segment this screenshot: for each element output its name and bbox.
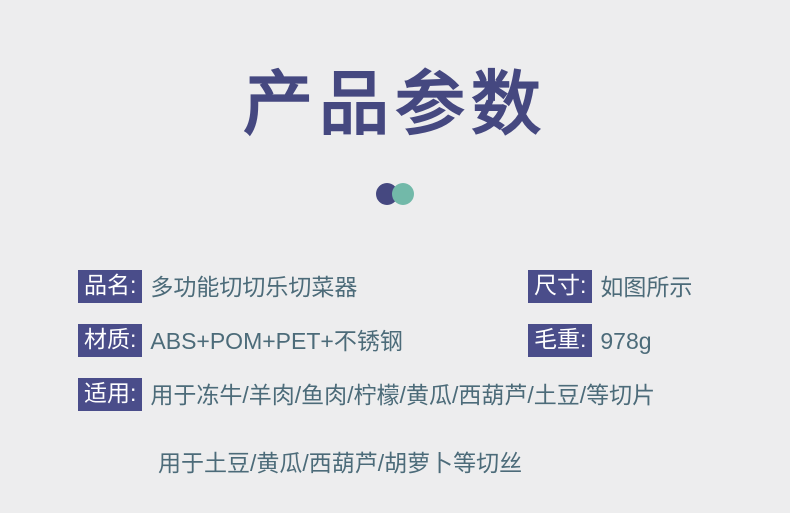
spec-label-badge: 品名: — [78, 270, 142, 303]
spec-row: 适用: 用于冻牛/羊肉/鱼肉/柠檬/黄瓜/西葫芦/土豆/等切片 — [0, 370, 790, 424]
spec-item-applicable-use: 适用: 用于冻牛/羊肉/鱼肉/柠檬/黄瓜/西葫芦/土豆/等切片 — [78, 378, 655, 411]
spec-label-badge: 适用: — [78, 378, 142, 411]
spec-item-material: 材质: ABS+POM+PET+不锈钢 — [78, 324, 403, 357]
spec-value: ABS+POM+PET+不锈钢 — [150, 328, 402, 354]
spec-value: 978g — [600, 328, 651, 354]
spec-item-product-name: 品名: 多功能切切乐切菜器 — [78, 270, 357, 303]
spec-list: 品名: 多功能切切乐切菜器 尺寸: 如图所示 材质: ABS+POM+PET+不… — [0, 262, 790, 424]
spec-label-badge: 尺寸: — [528, 270, 592, 303]
spec-row: 品名: 多功能切切乐切菜器 尺寸: 如图所示 — [0, 262, 790, 316]
product-spec-page: 产品参数 品名: 多功能切切乐切菜器 尺寸: 如图所示 材质: ABS+POM+… — [0, 0, 790, 513]
teal-circle-icon — [392, 183, 414, 205]
spec-row: 材质: ABS+POM+PET+不锈钢 毛重: 978g — [0, 316, 790, 370]
decorative-divider — [0, 182, 790, 206]
spec-item-gross-weight: 毛重: 978g — [528, 324, 652, 357]
spec-value: 如图所示 — [600, 274, 692, 300]
title-block: 产品参数 — [0, 62, 790, 146]
spec-label-badge: 材质: — [78, 324, 142, 357]
spec-value: 用于冻牛/羊肉/鱼肉/柠檬/黄瓜/西葫芦/土豆/等切片 — [150, 382, 655, 408]
dual-circle-ornament — [376, 183, 414, 205]
spec-continuation-line: 用于土豆/黄瓜/西葫芦/胡萝卜等切丝 — [158, 450, 522, 476]
spec-value: 多功能切切乐切菜器 — [150, 274, 357, 300]
spec-item-size: 尺寸: 如图所示 — [528, 270, 692, 303]
page-title: 产品参数 — [0, 62, 790, 146]
spec-label-badge: 毛重: — [528, 324, 592, 357]
